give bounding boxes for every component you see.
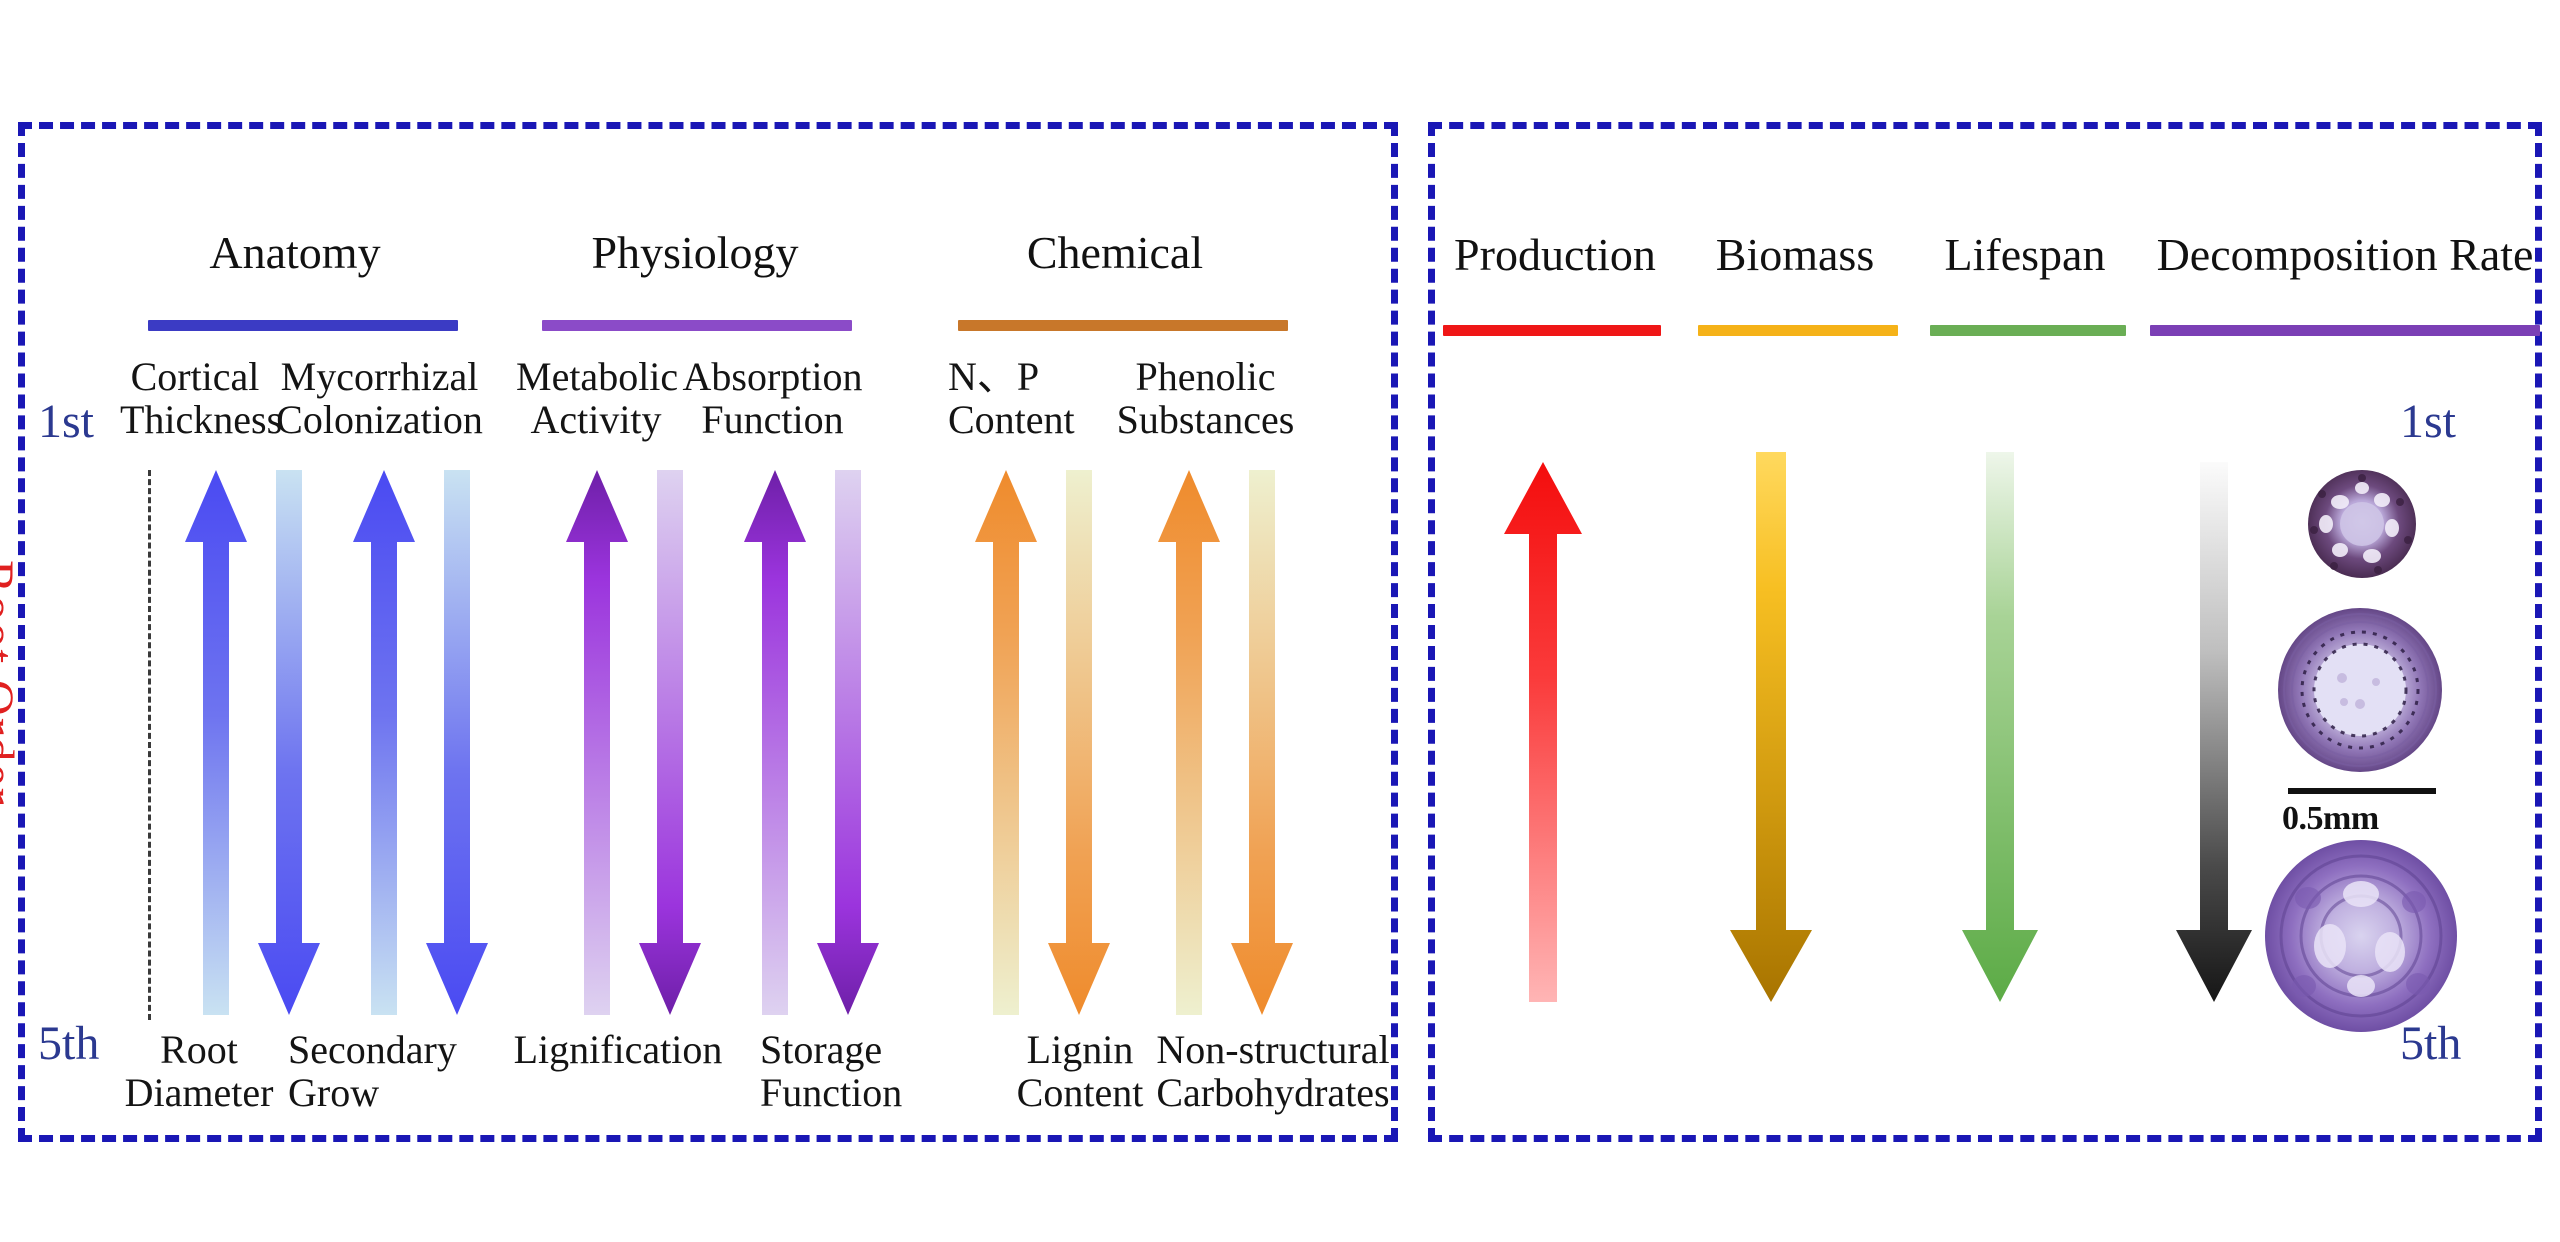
arrow-up-metabolic-activity: [566, 470, 628, 1015]
group-title-biomass: Biomass: [1690, 232, 1900, 278]
root-cross-section-3rd-order: [2272, 604, 2448, 776]
root-order-bottom-5th: 5th: [38, 1020, 99, 1068]
group-bar-biomass: [1698, 325, 1898, 336]
arrow-up-mycorrhizal-colonization: [353, 470, 415, 1015]
arrow-down-lifespan: [1962, 452, 2038, 1002]
group-title-lifespan: Lifespan: [1920, 232, 2130, 278]
root-cross-section-1st-order: [2300, 462, 2424, 586]
right-order-top-1st: 1st: [2400, 398, 2456, 446]
trait-top-label-cortical-thickness: CorticalThickness: [120, 355, 270, 441]
trait-bottom-label-nonstructural-carbohydrates: Non-structuralCarbohydrates: [1148, 1028, 1398, 1114]
trait-top-label-np-content: N、PContent: [948, 355, 1098, 441]
arrow-down-lignification: [639, 470, 701, 1015]
group-bar-lifespan: [1930, 325, 2126, 336]
trait-top-label-metabolic-activity: MetabolicActivity: [516, 355, 676, 441]
group-bar-physiology: [542, 320, 852, 331]
group-bar-production: [1443, 325, 1661, 336]
group-title-anatomy: Anatomy: [130, 230, 460, 276]
trait-bottom-label-lignification: Lignification: [508, 1028, 728, 1071]
group-bar-chemical: [958, 320, 1288, 331]
arrow-down-storage-function: [817, 470, 879, 1015]
arrow-up-production: [1504, 462, 1582, 1002]
group-title-decomposition-rate: Decomposition Rate: [2140, 232, 2550, 278]
group-title-physiology: Physiology: [530, 230, 860, 276]
scale-bar-label: 0.5mm: [2282, 800, 2379, 838]
trait-top-label-phenolic-substances: PhenolicSubstances: [1108, 355, 1303, 441]
arrow-down-root-diameter: [258, 470, 320, 1015]
arrow-up-phenolic-substances: [1158, 470, 1220, 1015]
trait-bottom-label-secondary-grow: SecondaryGrow: [288, 1028, 478, 1114]
arrow-down-decomposition-rate: [2176, 462, 2252, 1002]
trait-top-label-absorption-function: AbsorptionFunction: [680, 355, 865, 441]
trait-bottom-label-storage-function: StorageFunction: [760, 1028, 940, 1114]
root-order-axis-label: Root Order: [0, 560, 26, 806]
arrow-up-cortical-thickness: [185, 470, 247, 1015]
group-bar-decomposition-rate: [2150, 325, 2540, 336]
arrow-up-absorption-function: [744, 470, 806, 1015]
arrow-up-np-content: [975, 470, 1037, 1015]
group-title-chemical: Chemical: [950, 230, 1280, 276]
trait-bottom-label-root-diameter: RootDiameter: [124, 1028, 274, 1114]
arrow-down-biomass: [1730, 452, 1812, 1002]
root-order-top-1st: 1st: [38, 398, 94, 446]
trait-bottom-label-lignin-content: LigninContent: [1000, 1028, 1160, 1114]
arrow-down-lignin-content: [1048, 470, 1110, 1015]
trait-top-label-mycorrhizal-colonization: MycorrhizalColonization: [272, 355, 487, 441]
arrow-down-nonstructural-carbohydrates: [1231, 470, 1293, 1015]
group-bar-anatomy: [148, 320, 458, 331]
group-title-production: Production: [1430, 232, 1680, 278]
root-cross-section-5th-order: [2258, 836, 2464, 1036]
root-order-axis-line: [148, 470, 151, 1020]
arrow-down-secondary-grow: [426, 470, 488, 1015]
scale-bar-line: [2288, 788, 2436, 794]
